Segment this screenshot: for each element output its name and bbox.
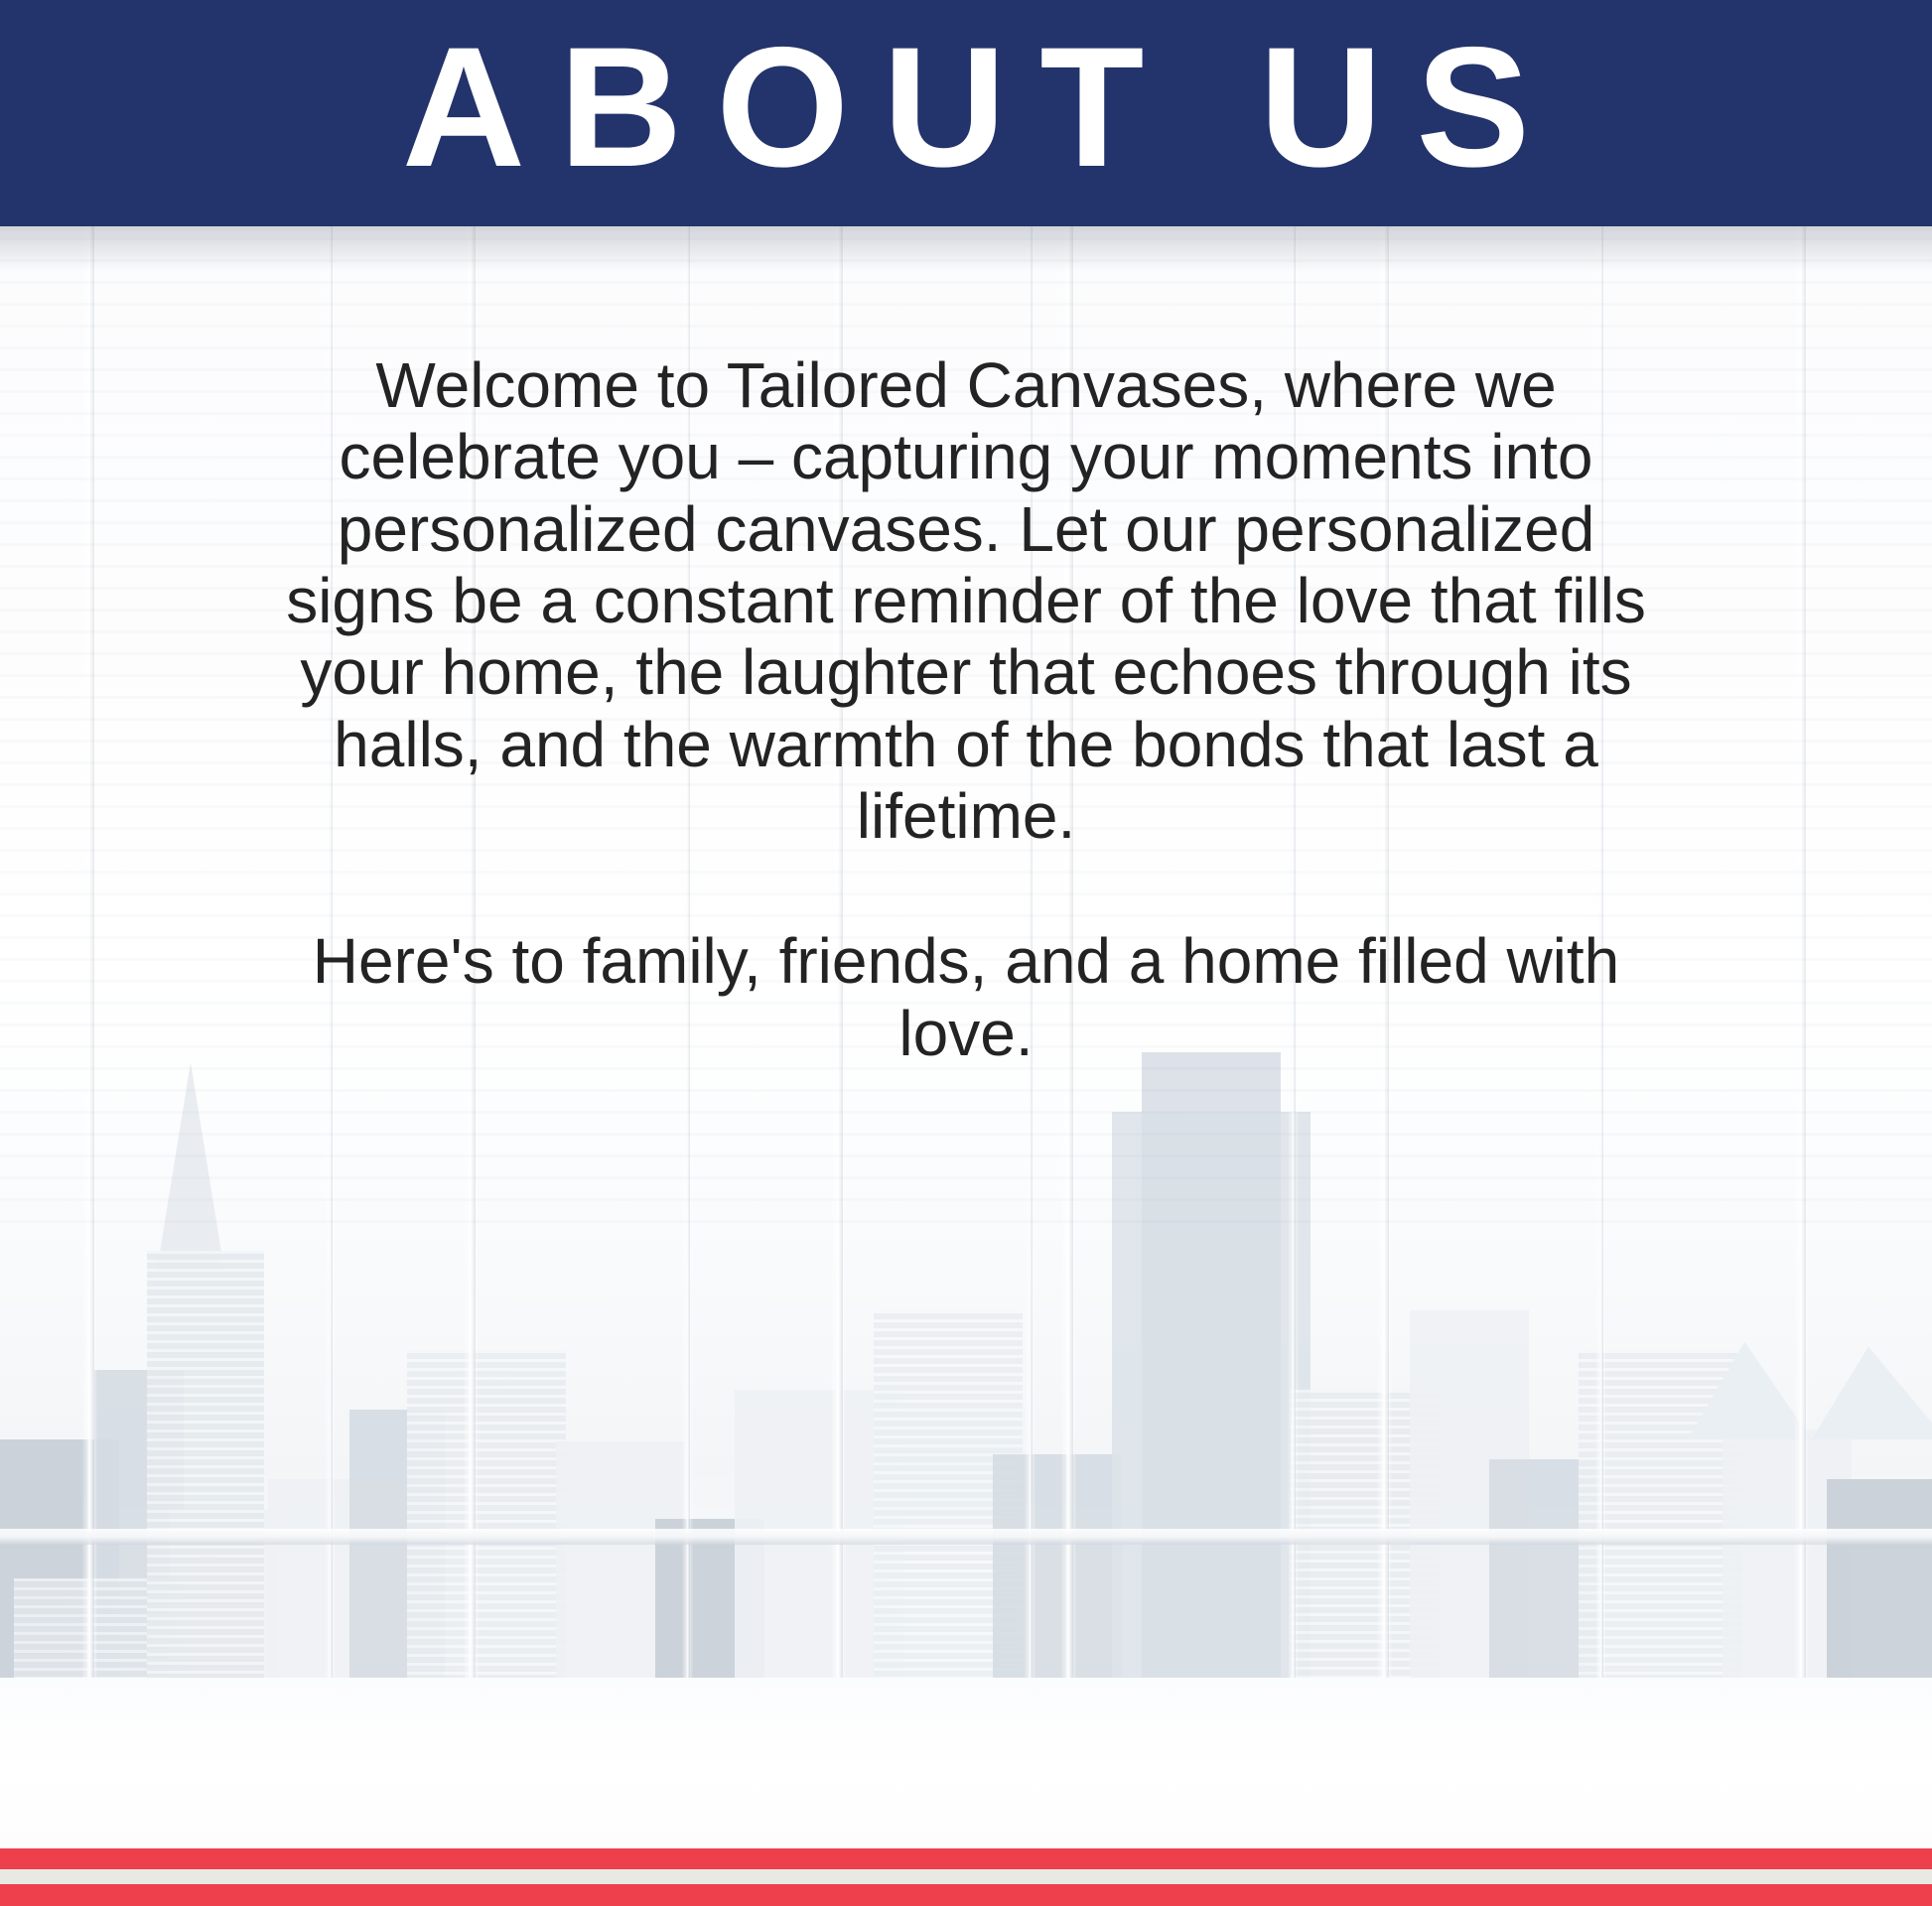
footer-stripe-gap [0, 1869, 1932, 1884]
footer-stripe-top [0, 1848, 1932, 1869]
about-us-copy: Welcome to Tailored Canvases, where we c… [261, 349, 1671, 1069]
founder-signature-block: Harley Founder of Tailored Canvases [0, 1390, 1932, 1856]
header-drop-shadow [0, 226, 1932, 272]
header-band: ABOUT US [0, 0, 1932, 226]
about-paragraph-2: Here's to family, friends, and a home fi… [261, 925, 1671, 1069]
about-us-poster: ABOUT US Welcome to Tailored Canvases, w… [0, 0, 1932, 1906]
about-paragraph-1: Welcome to Tailored Canvases, where we c… [261, 349, 1671, 852]
page-title: ABOUT US [368, 22, 1564, 193]
footer-stripe-bottom [0, 1884, 1932, 1906]
